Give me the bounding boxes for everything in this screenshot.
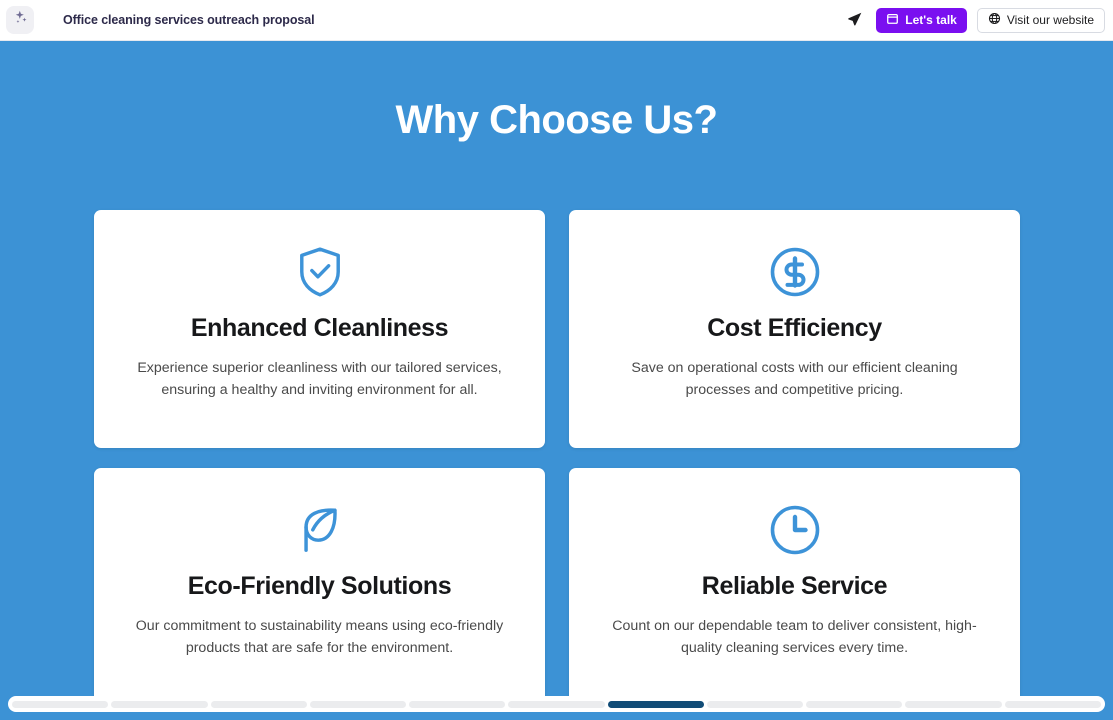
benefit-card[interactable]: Enhanced Cleanliness Experience superior… [94,210,545,448]
leaf-icon [295,504,345,556]
app-logo[interactable] [6,6,34,34]
benefit-card-title: Reliable Service [702,572,887,601]
benefit-card-title: Eco-Friendly Solutions [188,572,451,601]
benefit-card-title: Cost Efficiency [707,314,882,343]
slide-progress-segment-1[interactable] [12,701,108,708]
send-button[interactable] [844,9,866,31]
slide-progress-segment-9[interactable] [806,701,902,708]
slide-progress-segment-10[interactable] [905,701,1001,708]
send-icon [847,11,863,30]
slide-progress-segment-4[interactable] [310,701,406,708]
top-bar-actions: Let's talk Visit our website [844,8,1105,33]
slide-canvas: Why Choose Us? Enhanced Cleanliness Expe… [0,41,1113,720]
benefit-card-body: Our commitment to sustainability means u… [130,615,509,659]
clock-icon [769,504,821,556]
globe-icon [988,12,1001,28]
benefit-card-body: Save on operational costs with our effic… [605,357,984,401]
benefit-card[interactable]: Reliable Service Count on our dependable… [569,468,1020,706]
slide-progress-segment-8[interactable] [707,701,803,708]
benefit-card-body: Experience superior cleanliness with our… [130,357,509,401]
slide-title: Why Choose Us? [0,41,1113,142]
slide-progress-segment-5[interactable] [409,701,505,708]
benefit-card-body: Count on our dependable team to deliver … [605,615,984,659]
slide-progress-segment-2[interactable] [111,701,207,708]
slide-progress-segment-7[interactable] [608,701,704,708]
slide-progress-segment-3[interactable] [211,701,307,708]
sparkles-icon [12,9,29,31]
shield-check-icon [297,246,343,298]
visit-website-button[interactable]: Visit our website [977,8,1105,33]
slide-progress-segment-6[interactable] [508,701,604,708]
visit-website-label: Visit our website [1007,13,1094,27]
slide-progress-segment-11[interactable] [1005,701,1101,708]
dollar-circle-icon [769,246,821,298]
benefit-card[interactable]: Cost Efficiency Save on operational cost… [569,210,1020,448]
lets-talk-label: Let's talk [905,13,957,27]
calendar-icon [886,12,899,28]
top-bar: Office cleaning services outreach propos… [0,0,1113,41]
document-title: Office cleaning services outreach propos… [63,13,314,27]
lets-talk-button[interactable]: Let's talk [876,8,967,33]
benefit-card-title: Enhanced Cleanliness [191,314,448,343]
benefit-card[interactable]: Eco-Friendly Solutions Our commitment to… [94,468,545,706]
benefit-cards-grid: Enhanced Cleanliness Experience superior… [94,210,1020,706]
slide-progress-bar[interactable] [8,696,1105,712]
